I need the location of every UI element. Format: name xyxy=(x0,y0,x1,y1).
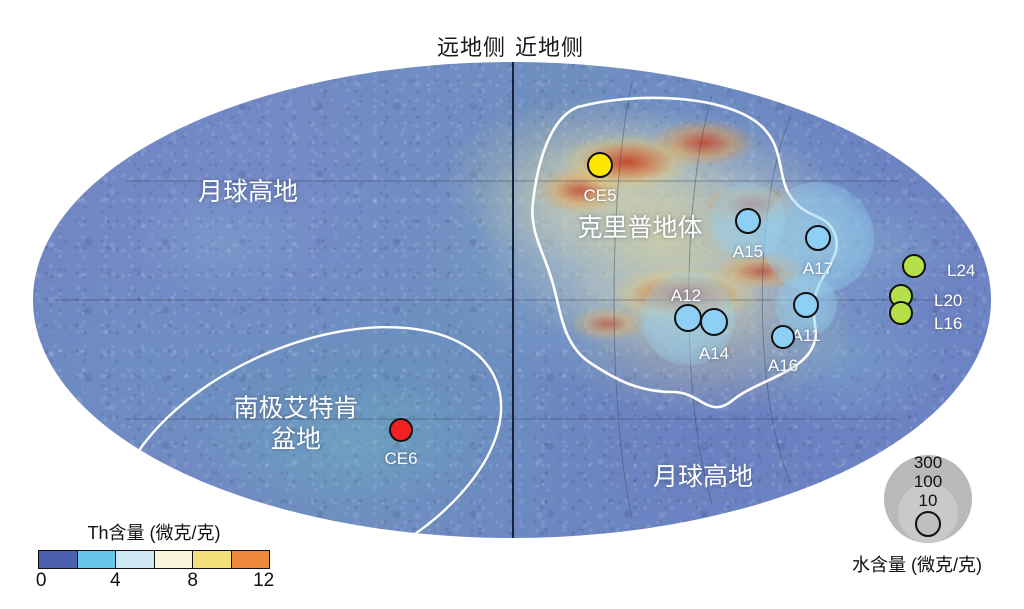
thorium-tick-12: 12 xyxy=(253,570,274,592)
sample-site-a17[interactable] xyxy=(805,225,831,251)
sample-site-l16[interactable] xyxy=(889,301,913,325)
region-label-line: 克里普地体 xyxy=(577,213,702,244)
sample-site-a14[interactable] xyxy=(700,308,728,336)
thorium-tick-0: 0 xyxy=(36,570,47,592)
thorium-swatch-3 xyxy=(155,551,194,568)
sample-site-label-ce6: CE6 xyxy=(384,449,417,469)
thorium-swatch-1 xyxy=(78,551,117,568)
region-label-line: 月球高地 xyxy=(653,462,753,493)
region-label-line: 南极艾特肯 xyxy=(233,394,358,425)
thorium-tick-8: 8 xyxy=(187,570,198,592)
sample-site-a16[interactable] xyxy=(771,325,795,349)
thorium-swatch-2 xyxy=(116,551,155,568)
sample-site-a11[interactable] xyxy=(793,292,819,318)
near-side-caption: 近地侧 xyxy=(515,30,584,62)
sample-site-ce6[interactable] xyxy=(389,418,413,442)
lunar-map xyxy=(33,62,991,538)
water-legend-title: 水含量 (微克/克) xyxy=(852,551,976,577)
region-label-highland-near: 月球高地 xyxy=(653,462,753,493)
water-value-100: 100 xyxy=(914,472,942,492)
water-value-300: 300 xyxy=(914,453,942,473)
sample-site-label-l20: L20 xyxy=(934,291,962,311)
region-label-line: 盆地 xyxy=(233,424,358,455)
sample-site-a15[interactable] xyxy=(735,208,761,234)
water-content-legend: 300 100 10 水含量 (微克/克) xyxy=(866,455,990,577)
sample-site-label-a16: A16 xyxy=(768,356,798,376)
region-label-kreep: 克里普地体 xyxy=(577,213,702,244)
thorium-swatch-0 xyxy=(39,551,78,568)
near-far-divider-line xyxy=(512,62,514,538)
thorium-colorbar-ticks: 04812 xyxy=(38,570,270,592)
thorium-colorbar-legend: Th含量 (微克/克) 04812 xyxy=(38,519,270,592)
thorium-tick-4: 4 xyxy=(110,570,121,592)
sample-site-label-a11: A11 xyxy=(792,326,821,346)
sample-site-label-ce5: CE5 xyxy=(583,186,616,206)
region-label-highland-far: 月球高地 xyxy=(198,177,298,208)
far-side-caption: 远地侧 xyxy=(437,30,506,62)
thorium-colorbar xyxy=(38,550,270,569)
water-value-10: 10 xyxy=(919,491,938,511)
thorium-swatch-5 xyxy=(232,551,270,568)
water-legend-circles: 300 100 10 xyxy=(872,455,984,543)
region-label-spa: 南极艾特肯盆地 xyxy=(233,394,358,455)
figure-canvas: 远地侧 近地侧 xyxy=(0,0,1024,609)
sample-site-label-a17: A17 xyxy=(803,259,833,279)
water-circle-10 xyxy=(915,511,941,537)
sample-site-label-l24: L24 xyxy=(947,261,975,281)
region-label-line: 月球高地 xyxy=(198,177,298,208)
sample-site-label-a12: A12 xyxy=(671,286,701,306)
thorium-swatch-4 xyxy=(193,551,232,568)
sample-site-label-l16: L16 xyxy=(934,314,962,334)
thorium-legend-title: Th含量 (微克/克) xyxy=(38,519,270,545)
sample-site-ce5[interactable] xyxy=(587,152,613,178)
sample-site-a12[interactable] xyxy=(674,304,702,332)
sample-site-l24[interactable] xyxy=(902,254,926,278)
sample-site-label-a15: A15 xyxy=(733,242,763,262)
sample-site-label-a14: A14 xyxy=(699,344,729,364)
